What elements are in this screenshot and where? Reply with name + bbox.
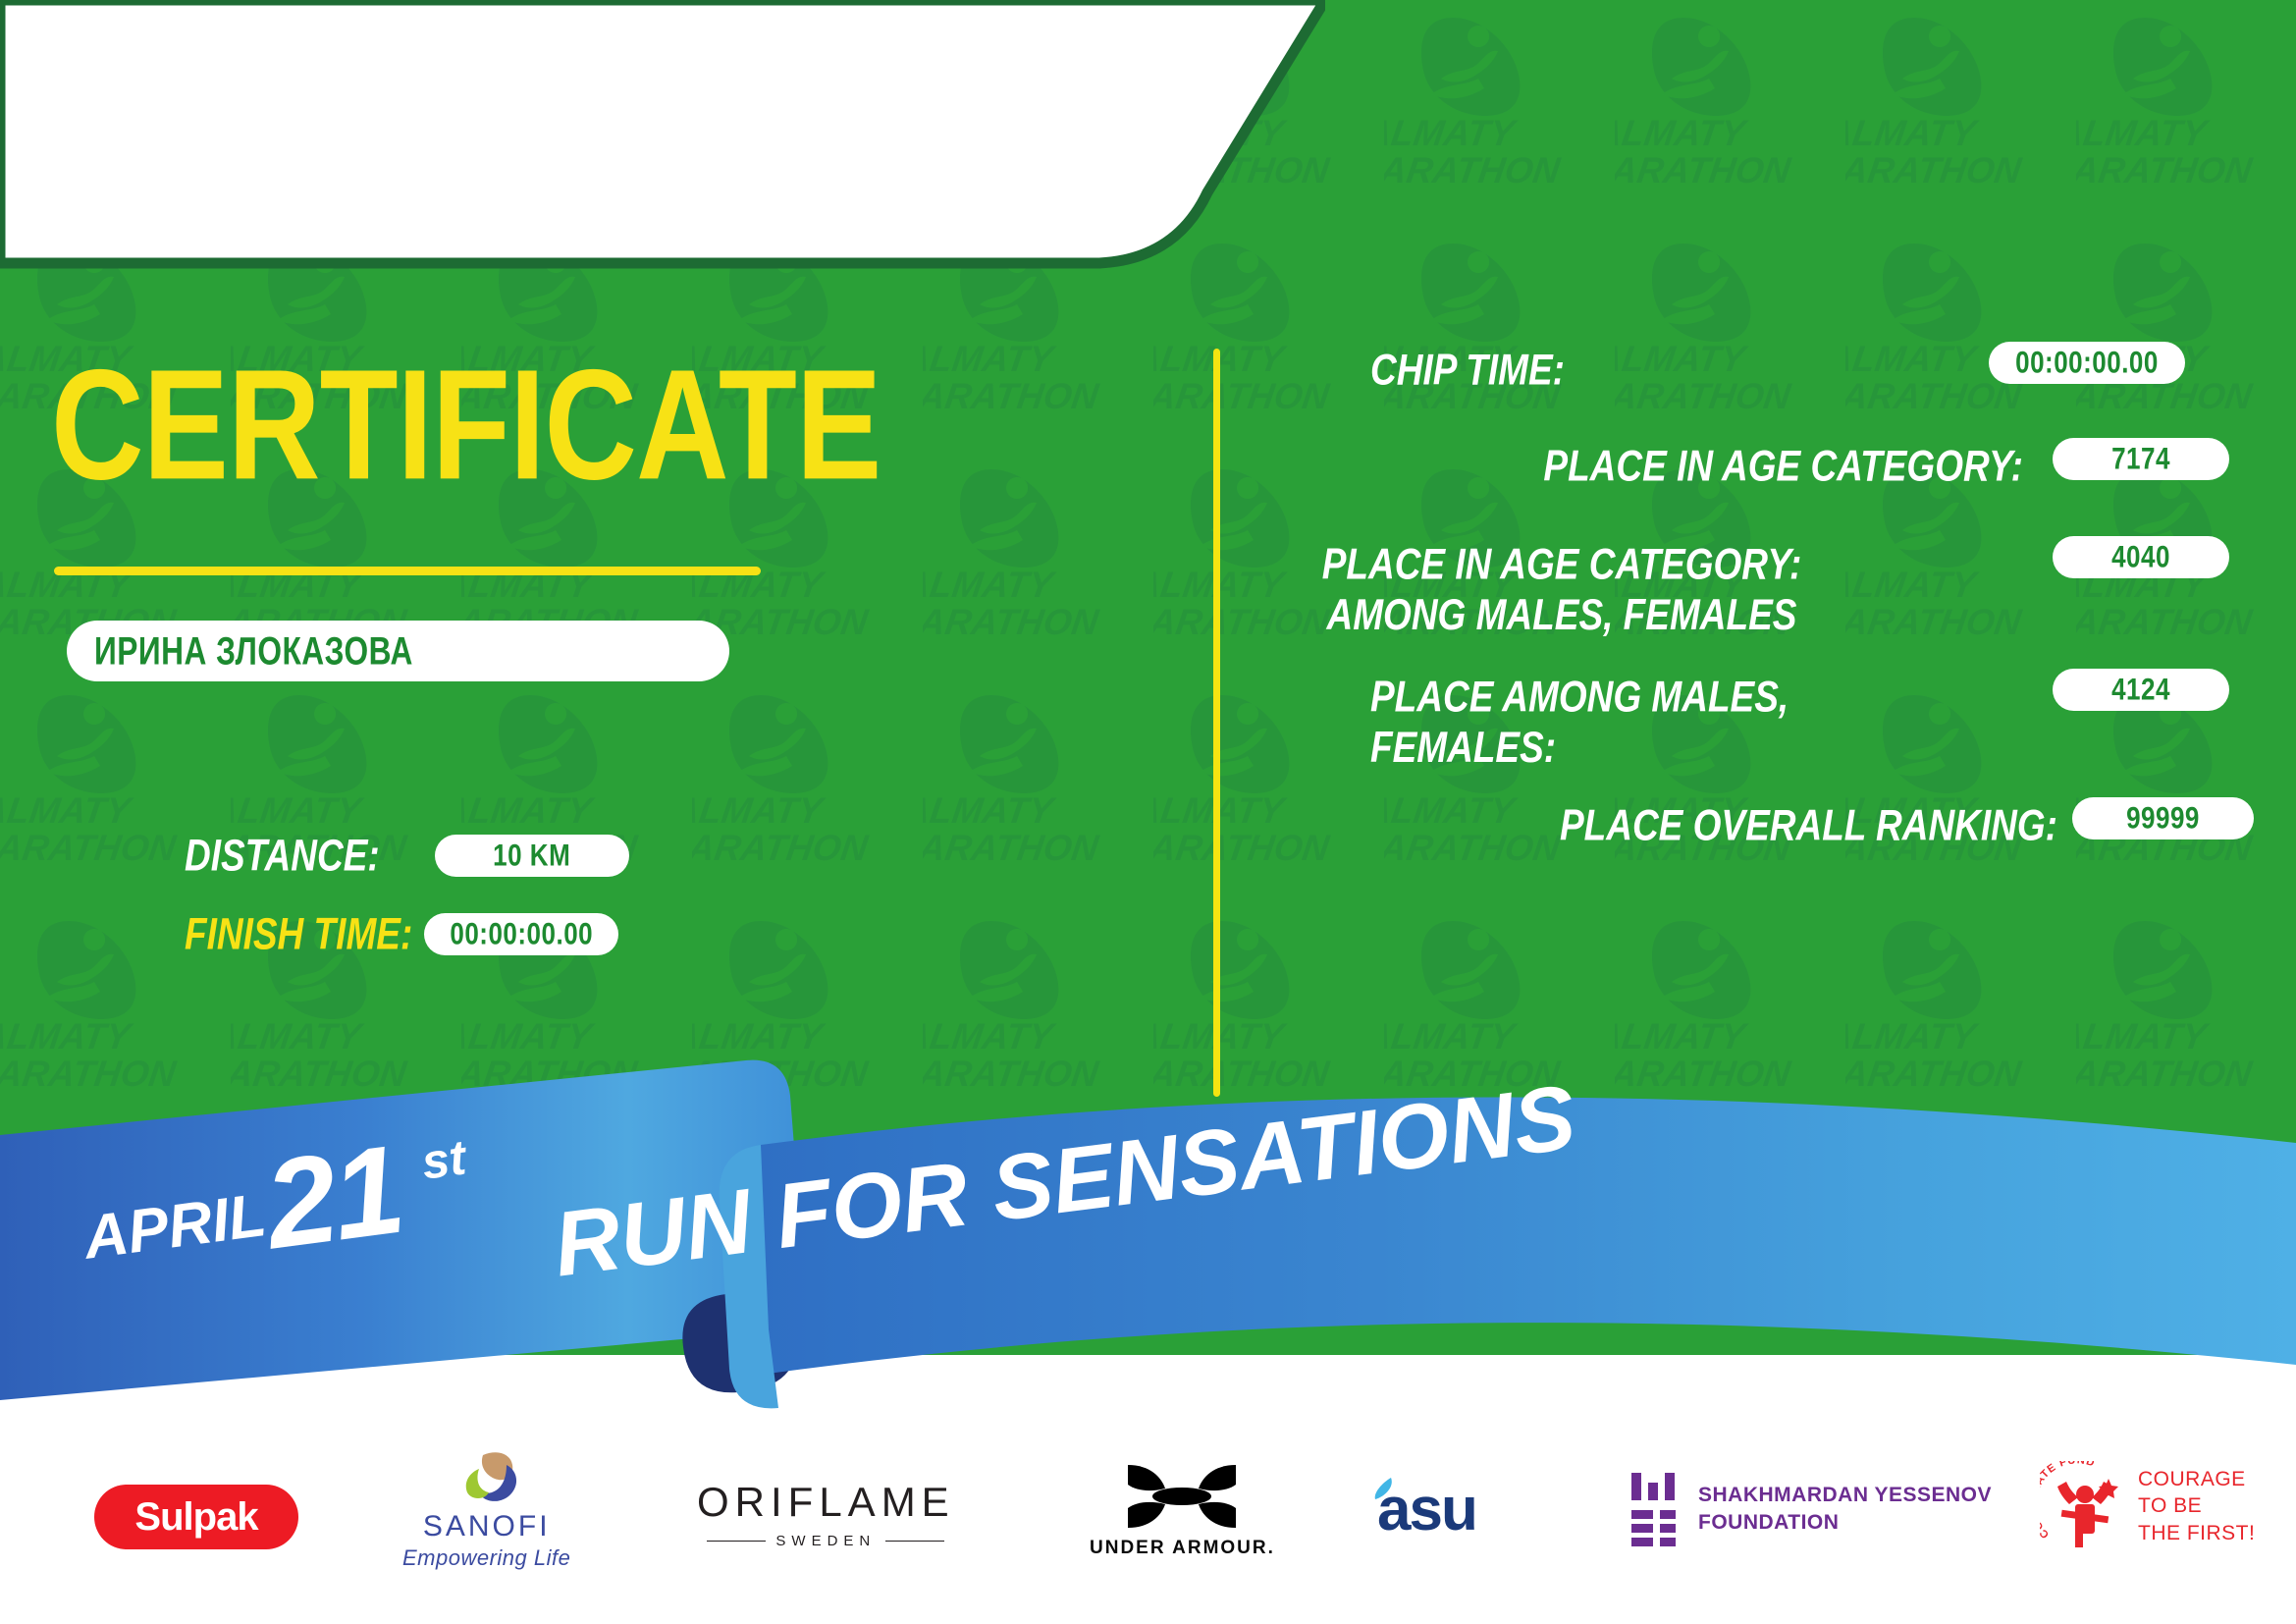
overall-ranking-value: 99999 [2126,800,2200,837]
chip-time-value: 00:00:00.00 [2015,345,2159,381]
gender-place-label: PLACE AMONG MALES, FEMALES: [1370,673,2038,774]
finish-time-row: FINISH TIME: 00:00:00.00 [185,913,618,955]
sponsor-sanofi[interactable]: SANOFI Empowering Life [402,1451,570,1571]
yessenov-label-line1: SHAKHMARDAN YESSENOV [1698,1482,1992,1509]
distance-label: DISTANCE: [185,831,380,881]
oriflame-rule-right [885,1541,944,1542]
certificate-left-column: CERTIFICATE ИРИНА ЗЛОКАЗОВА DISTANCE: 10… [0,295,1213,1100]
sulpak-logo: Sulpak [94,1485,298,1549]
oriflame-sub-label: SWEDEN [775,1533,876,1549]
overall-ranking-label: PLACE OVERALL RANKING: [1174,801,2057,851]
distance-value: 10 KM [493,838,570,874]
age-category-value-field[interactable]: 7174 [2053,438,2229,480]
gender-place-value-field[interactable]: 4124 [2053,669,2229,711]
asu-label: asu [1377,1475,1476,1544]
sanofi-tagline: Empowering Life [402,1545,570,1571]
oriflame-label: ORIFLAME [697,1479,955,1526]
title-underline [54,567,761,575]
under-armour-icon [1120,1463,1244,1532]
ribbon-day: 21 [257,1117,408,1278]
header-plate [0,0,1325,295]
distance-row: DISTANCE: 10 KM [185,835,629,877]
gender-place-value: 4124 [2111,672,2170,708]
finish-time-value: 00:00:00.00 [450,916,593,952]
age-category-gender-value: 4040 [2111,539,2170,575]
sanofi-icon [450,1451,524,1506]
distance-value-field[interactable]: 10 KM [435,835,629,877]
yessenov-label-line2: FOUNDATION [1698,1509,1992,1537]
sponsor-oriflame[interactable]: ORIFLAME SWEDEN [697,1479,955,1549]
chip-time-label: CHIP TIME: [1370,346,2057,396]
ribbon-day-suffix: st [418,1128,469,1190]
age-category-label: PLACE IN AGE CATEGORY: [1140,442,2023,492]
sponsor-under-armour[interactable]: UNDER ARMOUR. [1090,1463,1275,1559]
under-armour-label: UNDER ARMOUR. [1090,1538,1275,1559]
corporate-fund-line3: THE FIRST! [2138,1520,2255,1546]
age-category-gender-label: PLACE IN AGE CATEGORY: AMONG MALES, FEMA… [1130,540,1994,641]
sponsor-asu[interactable]: asu [1369,1475,1476,1544]
participant-name-field[interactable]: ИРИНА ЗЛОКАЗОВА [67,621,729,681]
corporate-fund-line2: TO BE [2138,1492,2255,1519]
finish-time-value-field[interactable]: 00:00:00.00 [424,913,618,955]
page-title: CERTIFICATE [51,346,881,503]
sulpak-label: Sulpak [134,1495,257,1540]
oriflame-rule-left [707,1541,766,1542]
sanofi-label: SANOFI [423,1510,551,1543]
participant-name-value: ИРИНА ЗЛОКАЗОВА [94,628,413,674]
overall-ranking-value-field[interactable]: 99999 [2072,797,2254,839]
sponsor-bar: Sulpak SANOFI Empowering Life ORIFLAME [0,1414,2296,1624]
age-category-gender-value-field[interactable]: 4040 [2053,536,2229,578]
sponsor-corporate-fund[interactable]: CORPORATE FUND COURAGE TO BE [2040,1461,2255,1551]
results-column: CHIP TIME: 00:00:00.00 PLACE IN AGE CATE… [1213,295,2296,1100]
age-category-value: 7174 [2111,441,2170,477]
corporate-fund-icon: CORPORATE FUND [2040,1461,2130,1551]
corporate-fund-line1: COURAGE [2138,1466,2255,1492]
yessenov-mark-icon [1628,1471,1681,1547]
finish-time-label: FINISH TIME: [185,909,412,959]
sponsor-yessenov-foundation[interactable]: SHAKHMARDAN YESSENOV FOUNDATION [1628,1471,1992,1547]
certificate-canvas: ALMATY MARATHON ALMATY MARATHON [0,0,2296,1624]
sponsor-sulpak[interactable]: Sulpak [94,1485,298,1549]
chip-time-value-field[interactable]: 00:00:00.00 [1989,342,2185,384]
